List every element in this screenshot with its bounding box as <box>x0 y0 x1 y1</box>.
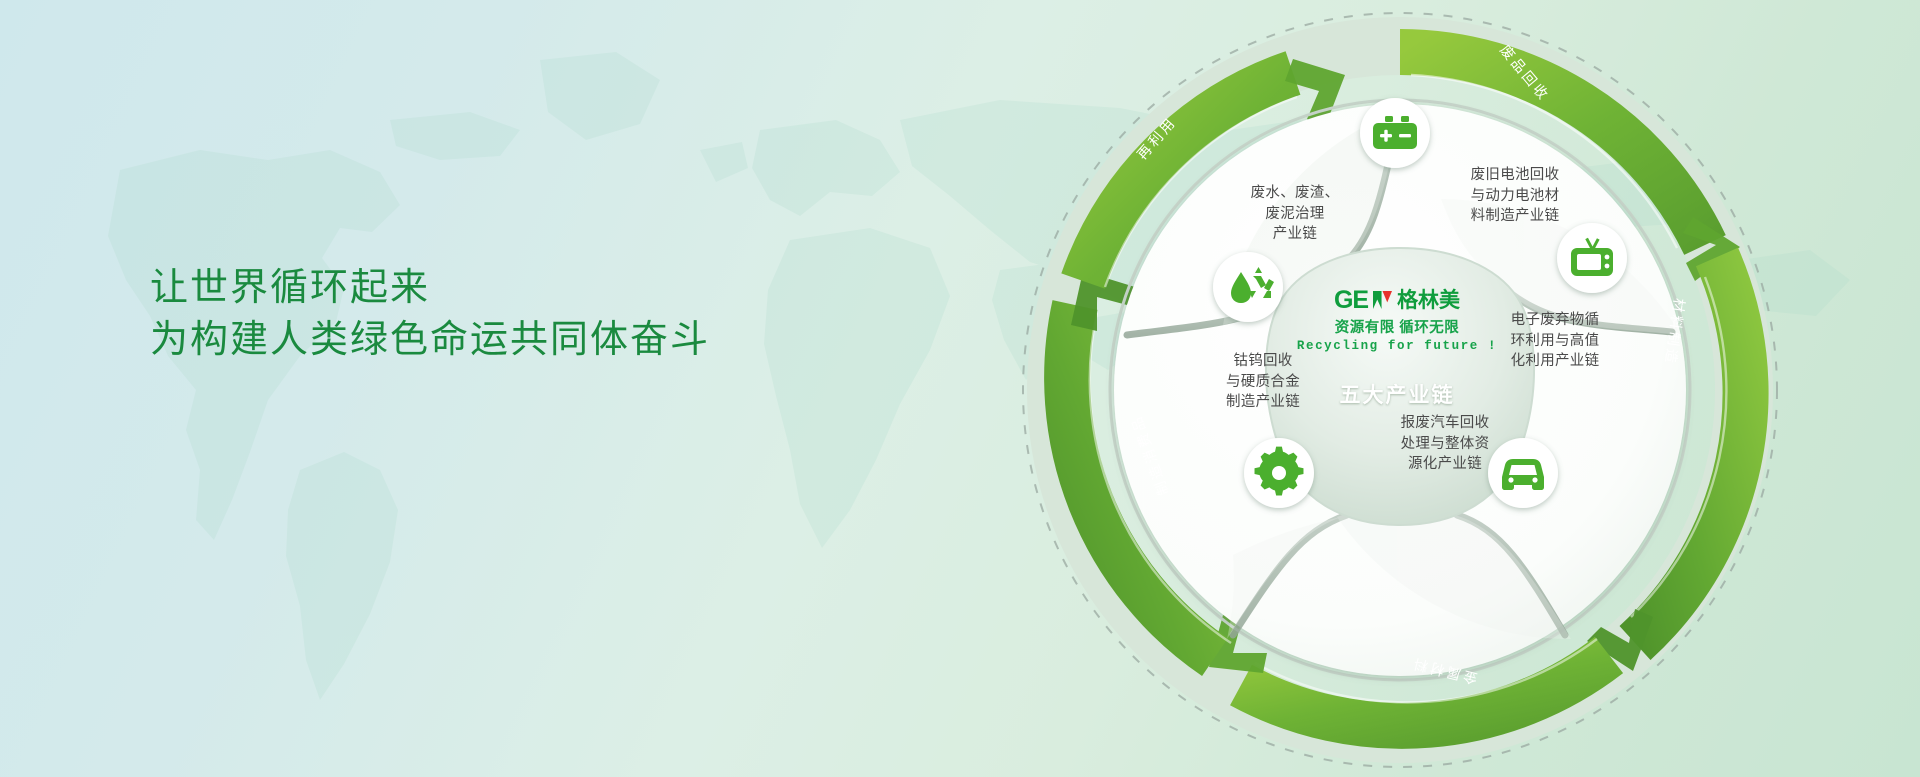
headline: 让世界循环起来 为构建人类绿色命运共同体奋斗 <box>150 263 710 366</box>
seg-line: 与硬质合金 <box>1173 372 1353 393</box>
seg-line: 废旧电池回收 <box>1420 165 1610 186</box>
diagram-graphics <box>1005 0 1795 777</box>
seg-line: 制造产业链 <box>1173 392 1353 413</box>
seg-line: 废泥治理 <box>1205 204 1385 225</box>
seg-line: 化利用产业链 <box>1460 351 1650 372</box>
headline-line-1: 让世界循环起来 <box>150 263 710 315</box>
segment-label-cobalt-tungsten-chain: 钴钨回收 与硬质合金 制造产业链 <box>1173 351 1353 413</box>
seg-line: 环利用与高值 <box>1460 331 1650 352</box>
segment-label-waste-water-chain: 废水、废渣、 废泥治理 产业链 <box>1205 183 1385 245</box>
battery-icon <box>1360 98 1430 168</box>
seg-line: 钴钨回收 <box>1173 351 1353 372</box>
five-industry-chain-diagram: 废水、废渣、 废泥治理 产业链 废旧电池回收 与动力电池材 料制造产业链 电子废… <box>1005 0 1795 777</box>
recycle-droplet-icon <box>1213 252 1283 322</box>
seg-line: 与动力电池材 <box>1420 186 1610 207</box>
seg-line: 料制造产业链 <box>1420 206 1610 227</box>
seg-line: 废水、废渣、 <box>1205 183 1385 204</box>
television-icon <box>1557 223 1627 293</box>
segment-label-e-waste-chain: 电子废弃物循 环利用与高值 化利用产业链 <box>1460 310 1650 372</box>
seg-line: 处理与整体资 <box>1350 434 1540 455</box>
segment-label-battery-chain: 废旧电池回收 与动力电池材 料制造产业链 <box>1420 165 1610 227</box>
gear-icon <box>1244 438 1314 508</box>
seg-line: 电子废弃物循 <box>1460 310 1650 331</box>
segment-label-scrap-car-chain: 报废汽车回收 处理与整体资 源化产业链 <box>1350 413 1540 475</box>
hero-banner: 让世界循环起来 为构建人类绿色命运共同体奋斗 <box>0 0 1920 777</box>
seg-line: 报废汽车回收 <box>1350 413 1540 434</box>
headline-line-2: 为构建人类绿色命运共同体奋斗 <box>150 315 710 367</box>
seg-line: 产业链 <box>1205 224 1385 245</box>
seg-line: 源化产业链 <box>1350 454 1540 475</box>
